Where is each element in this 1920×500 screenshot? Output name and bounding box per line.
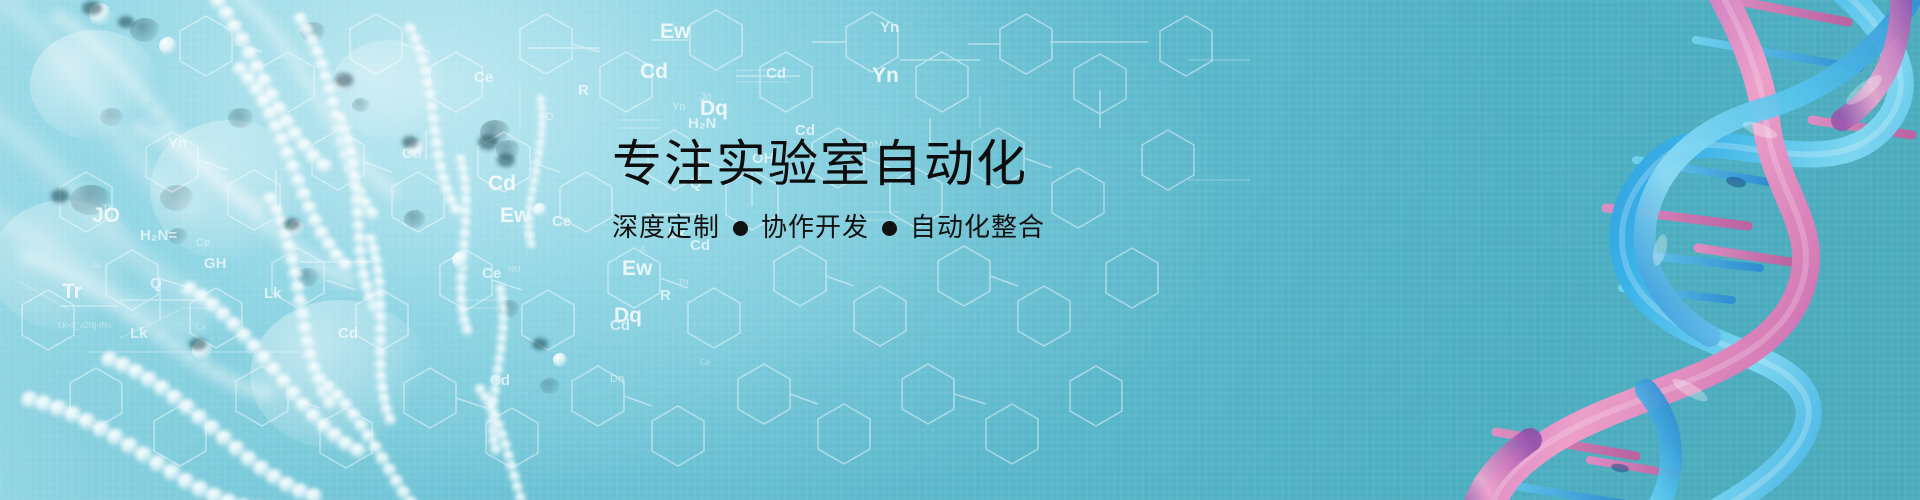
chem-label: Ca: [196, 323, 207, 332]
chem-label: Q: [150, 275, 162, 292]
defocus-dark-spot: [496, 140, 520, 160]
defocus-dark-spot: [540, 378, 560, 394]
bokeh-highlight: [30, 30, 160, 140]
chem-label: Dq: [610, 373, 624, 385]
chem-label: Cd: [402, 145, 422, 162]
chem-label: Yn: [872, 64, 899, 87]
chem-label: Ce: [482, 265, 501, 282]
chem-label: Yn: [522, 229, 535, 241]
dna-bead-strands: [0, 0, 680, 500]
chem-label: TN: [678, 278, 689, 287]
bullet-dot-icon: [882, 221, 897, 236]
chem-label: Cd: [640, 60, 668, 83]
chem-label: NM: [508, 265, 521, 274]
chem-label: Cd: [610, 317, 630, 334]
defocus-dark-spot: [100, 108, 124, 126]
dna-double-helix: [1460, 0, 1920, 500]
chem-label: Cd: [766, 65, 786, 82]
chem-label: Tr: [102, 203, 112, 215]
chem-label: Lk: [130, 325, 148, 342]
defocus-dark-spot: [498, 300, 520, 318]
defocus-dark-spot: [228, 108, 254, 128]
chem-label: GH: [204, 255, 227, 272]
defocus-dark-spot: [480, 120, 510, 144]
subtitle-item-2: 自动化整合: [910, 213, 1045, 244]
defocus-dark-spot: [296, 268, 320, 286]
chem-label: Ew: [500, 204, 531, 227]
defocus-dark-spot: [300, 22, 326, 42]
defocus-dark-spot: [70, 185, 112, 215]
chem-label: R: [660, 287, 671, 304]
chem-label: Ce: [196, 237, 210, 249]
bokeh-highlight: [150, 120, 310, 260]
chem-label: R: [578, 82, 589, 99]
hero-banner: CdJoYnYnHoNRDqYnH₂NCeEwCdOHQCdYnLkCdCeEw…: [0, 0, 1920, 500]
chem-label: Cd: [338, 325, 358, 342]
chem-label: Lk: [264, 285, 282, 302]
chem-label: O: [545, 111, 554, 123]
bullet-dot-icon: [733, 221, 748, 236]
bokeh-highlight: [250, 300, 430, 450]
chem-label: Yn: [672, 101, 685, 113]
chem-label: Dq: [700, 97, 728, 120]
subtitle-item-0: 深度定制: [612, 213, 720, 244]
chem-label: Jo: [92, 261, 101, 270]
chem-label: Cd: [488, 172, 516, 195]
defocus-dark-spot: [168, 228, 188, 244]
chem-label: Tr: [62, 280, 82, 303]
chem-label: JO: [92, 204, 120, 227]
chem-label: Ew: [660, 20, 691, 43]
chem-label: H₂N: [688, 115, 716, 132]
chem-label: Cd: [490, 372, 510, 389]
banner-subtitle: 深度定制 协作开发 自动化整合: [612, 213, 1252, 244]
background-texture: [0, 0, 1920, 500]
chem-label: Jo: [700, 91, 712, 103]
chem-label: Ce: [552, 213, 571, 230]
defocus-dark-spot: [352, 98, 370, 112]
bokeh-highlight: [0, 200, 140, 330]
chem-label: Yn: [168, 135, 187, 152]
defocus-dark-spot: [404, 210, 426, 228]
defocus-dark-spot: [130, 18, 160, 42]
chem-label: Ce: [474, 69, 493, 86]
subtitle-item-1: 协作开发: [761, 213, 869, 244]
banner-copy: 专注实验室自动化 深度定制 协作开发 自动化整合: [612, 138, 1252, 244]
defocus-dark-spot: [160, 185, 194, 211]
chem-label: Yn: [880, 19, 899, 36]
chem-label: H₂N=: [140, 227, 177, 244]
chem-label: A: [640, 245, 646, 254]
chem-label: Ce: [700, 358, 711, 367]
chemical-structure-overlay: CdJoYnYnHoNRDqYnH₂NCeEwCdOHQCdYnLkCdCeEw…: [0, 0, 1280, 500]
page-title: 专注实验室自动化: [612, 138, 1252, 191]
chem-label: Ew: [622, 257, 653, 280]
bokeh-highlight: [330, 40, 450, 140]
chem-label: Lk+5_a2Nj-tRn: [58, 321, 112, 330]
chem-label: Dq: [614, 304, 642, 327]
